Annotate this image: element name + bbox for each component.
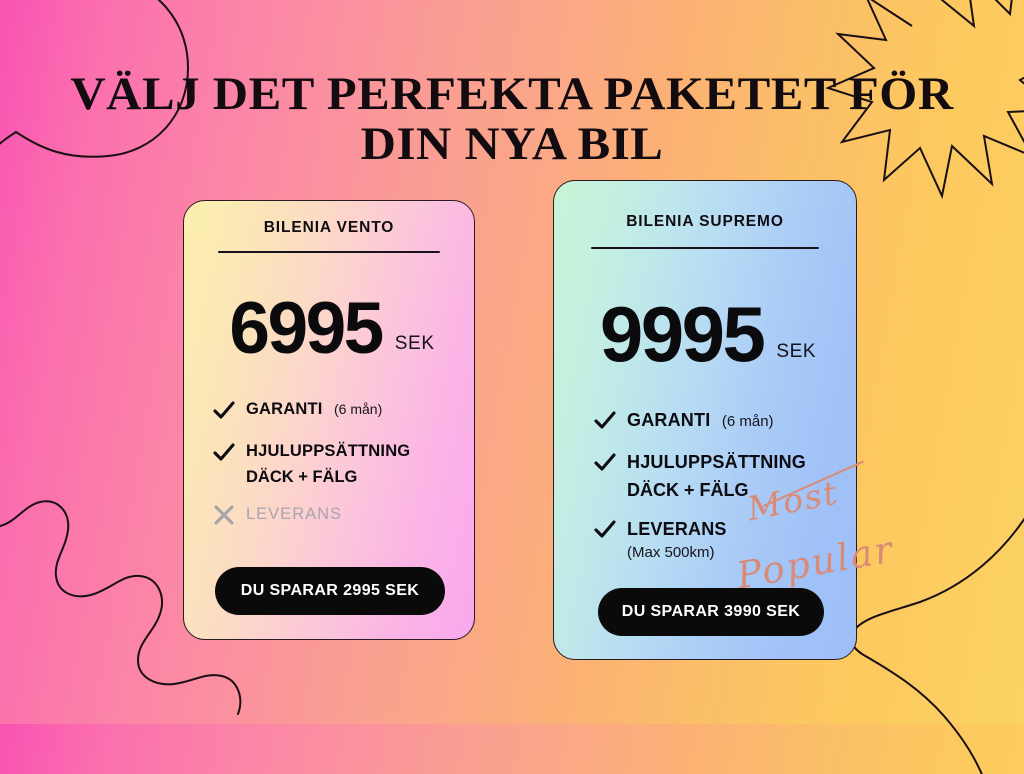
price-amount: 9995 <box>600 299 764 371</box>
check-icon <box>592 516 618 542</box>
feature-note: (6 mån) <box>722 413 774 430</box>
feature-label-line-2: DÄCK + FÄLG <box>627 480 806 501</box>
price-currency: SEK <box>395 333 435 355</box>
feature-label: LEVERANS <box>246 505 342 523</box>
feature-body: LEVERANS (Max 500km) <box>627 517 727 561</box>
feature-body: LEVERANS <box>246 503 342 524</box>
feature-item: GARANTI (6 mån) <box>592 408 856 434</box>
feature-note: (6 mån) <box>334 401 382 417</box>
check-icon <box>211 439 237 465</box>
page-title-line-2: DIN NYA BIL <box>0 120 1024 170</box>
feature-list: GARANTI (6 mån) HJULUPPSÄTTNING DÄCK + F… <box>554 408 856 566</box>
check-icon <box>592 449 618 475</box>
pricing-card-vento[interactable]: BILENIA VENTO 6995 SEK GARANTI (6 mån) H… <box>183 200 475 640</box>
feature-sub-note: (Max 500km) <box>627 544 727 561</box>
feature-label: HJULUPPSÄTTNING <box>627 452 806 472</box>
savings-button-supremo[interactable]: DU SPARAR 3990 SEK <box>598 588 824 636</box>
feature-list: GARANTI (6 mån) HJULUPPSÄTTNING DÄCK + F… <box>184 398 474 534</box>
page-title: VÄLJ DET PERFEKTA PAKETET FÖR DIN NYA BI… <box>0 70 1024 170</box>
pricing-card-supremo[interactable]: BILENIA SUPREMO 9995 SEK GARANTI (6 mån)… <box>553 180 857 660</box>
price-row: 6995 SEK <box>184 295 474 362</box>
price-row: 9995 SEK <box>554 299 856 371</box>
title-divider <box>591 247 819 249</box>
title-divider <box>218 251 440 253</box>
check-icon <box>211 397 237 423</box>
savings-button-vento[interactable]: DU SPARAR 2995 SEK <box>215 567 445 615</box>
feature-label: GARANTI <box>627 410 710 430</box>
cross-icon <box>211 502 237 528</box>
plan-title-supremo: BILENIA SUPREMO <box>554 213 856 231</box>
feature-item: GARANTI (6 mån) <box>211 398 474 424</box>
feature-body: GARANTI (6 mån) <box>627 408 774 431</box>
feature-body: GARANTI (6 mån) <box>246 398 382 419</box>
feature-label-line-2: DÄCK + FÄLG <box>246 468 410 487</box>
feature-label: LEVERANS <box>627 519 727 539</box>
feature-body: HJULUPPSÄTTNING DÄCK + FÄLG <box>627 450 806 501</box>
price-amount: 6995 <box>229 295 381 362</box>
feature-item: HJULUPPSÄTTNING DÄCK + FÄLG <box>211 440 474 487</box>
page-title-line-1: VÄLJ DET PERFEKTA PAKETET FÖR <box>70 68 953 120</box>
feature-item: LEVERANS (Max 500km) <box>592 517 856 561</box>
feature-label: HJULUPPSÄTTNING <box>246 442 410 460</box>
feature-item: HJULUPPSÄTTNING DÄCK + FÄLG <box>592 450 856 501</box>
check-icon <box>592 407 618 433</box>
feature-label: GARANTI <box>246 400 323 418</box>
plan-title-vento: BILENIA VENTO <box>184 219 474 237</box>
feature-item-disabled: LEVERANS <box>211 503 474 529</box>
price-currency: SEK <box>776 341 816 363</box>
feature-body: HJULUPPSÄTTNING DÄCK + FÄLG <box>246 440 410 487</box>
